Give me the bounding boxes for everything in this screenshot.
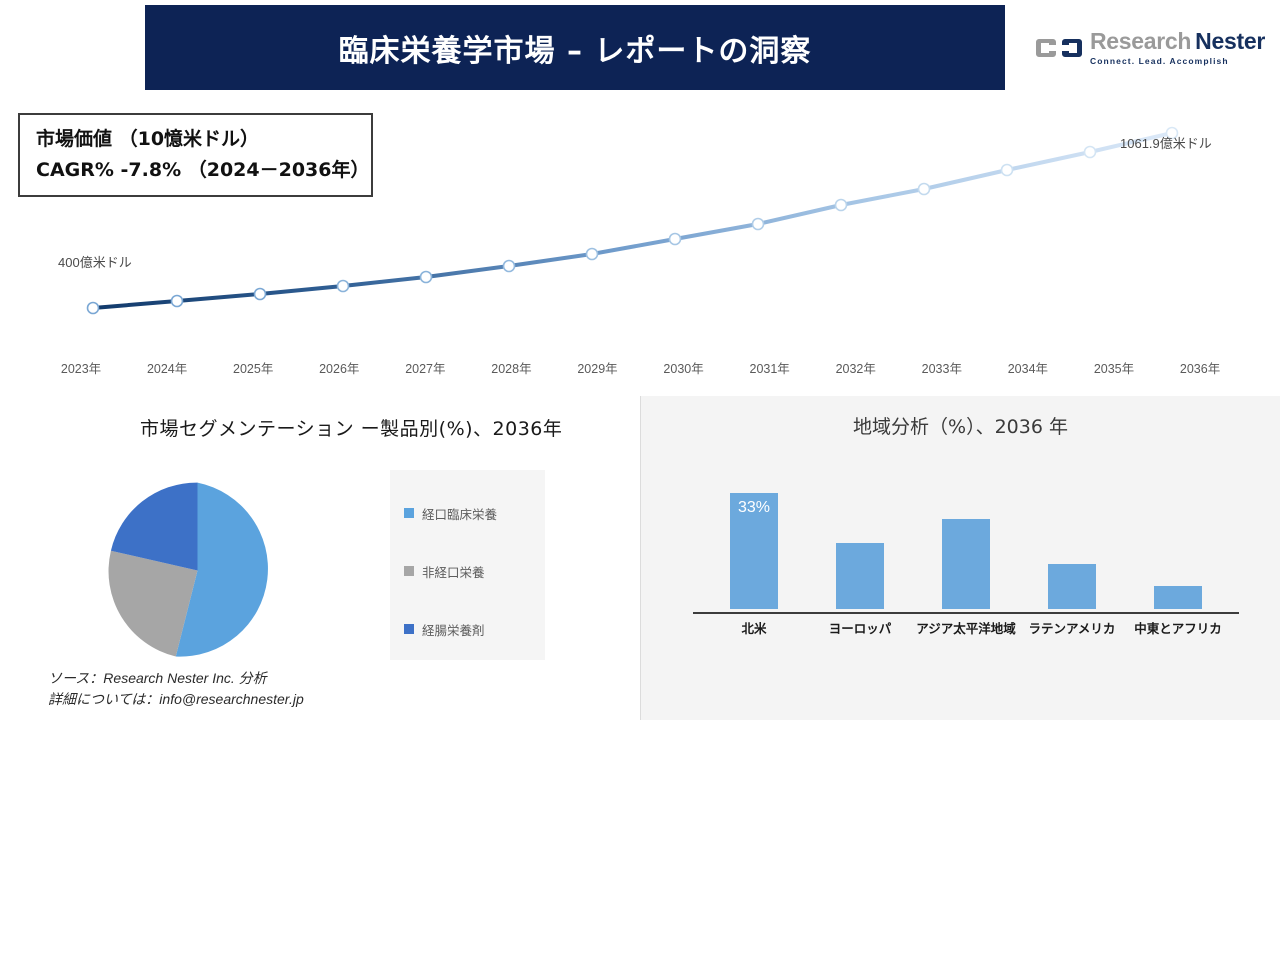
bar-column: [913, 466, 1019, 609]
source-line-2: 詳細については：info@researchnester.jp: [48, 689, 304, 710]
legend-item-enteral: 経腸栄養剤: [404, 600, 545, 658]
bar-europe: [836, 543, 884, 609]
bar-middle-east-africa: [1154, 586, 1202, 609]
legend-swatch-icon: [404, 566, 414, 576]
regional-analysis-panel: 地域分析（%）、2036 年 33% 北米 ヨーロッパ アジア太平洋地域 ラテン…: [640, 396, 1280, 720]
line-start-value-label: 400億米ドル: [58, 252, 132, 271]
x-tick: 2031年: [727, 358, 813, 382]
legend-swatch-icon: [404, 624, 414, 634]
bar-column: [1125, 466, 1231, 609]
x-tick: 2029年: [554, 358, 640, 382]
x-tick: 2024年: [124, 358, 210, 382]
x-tick: 2027年: [382, 358, 468, 382]
bar-label: 北米: [701, 618, 807, 637]
line-end-value-label: 1061.9億米ドル: [1120, 133, 1212, 152]
line-markers: [88, 128, 1178, 314]
x-tick: 2025年: [210, 358, 296, 382]
source-note: ソース：Research Nester Inc. 分析 詳細については：info…: [48, 668, 304, 710]
x-tick: 2028年: [468, 358, 554, 382]
regional-analysis-title: 地域分析（%）、2036 年: [641, 412, 1280, 439]
x-tick: 2033年: [899, 358, 985, 382]
bar-label: アジア太平洋地域: [913, 618, 1019, 637]
pie-data-label: 54%: [214, 928, 258, 954]
page-title: 臨床栄養学市場 – レポートの洞察: [339, 26, 812, 70]
header-bar: 臨床栄養学市場 – レポートの洞察: [145, 5, 1005, 90]
legend-item-parenteral: 非経口栄養: [404, 542, 545, 600]
bar-chart-x-axis: 北米 ヨーロッパ アジア太平洋地域 ラテンアメリカ 中東とアフリカ: [701, 618, 1231, 637]
x-tick: 2035年: [1071, 358, 1157, 382]
source-line-1: ソース：Research Nester Inc. 分析: [48, 668, 304, 689]
regional-bar-chart: 33%: [701, 466, 1231, 609]
bar-label: ラテンアメリカ: [1019, 618, 1125, 637]
bar-latin-america: [1048, 564, 1096, 609]
bar-column: 33%: [701, 466, 807, 609]
logo-tagline: Connect. Lead. Accomplish: [1090, 57, 1265, 66]
line-series-path: [93, 133, 1172, 308]
legend-swatch-icon: [404, 508, 414, 518]
bar-column: [807, 466, 913, 609]
x-tick: 2036年: [1157, 358, 1243, 382]
segmentation-title: 市場セグメンテーション ー製品別(%)、2036年: [140, 414, 562, 441]
segmentation-pie-chart: [105, 478, 290, 663]
bar-label: 中東とアフリカ: [1125, 618, 1231, 637]
bar-chart-axis-line: [693, 612, 1239, 614]
x-tick: 2023年: [38, 358, 124, 382]
legend-label: 非経口栄養: [422, 562, 485, 581]
bar-data-label: 33%: [730, 499, 778, 517]
market-value-line-chart: [0, 100, 1280, 390]
x-tick: 2034年: [985, 358, 1071, 382]
bar-column: [1019, 466, 1125, 609]
brand-logo: ResearchNester Connect. Lead. Accomplish: [1035, 22, 1265, 74]
logo-wordmark: ResearchNester: [1090, 30, 1265, 53]
logo-mark-icon: [1035, 33, 1083, 63]
logo-word-research: Research: [1090, 28, 1191, 54]
bar-north-america: 33%: [730, 493, 778, 609]
x-tick: 2030年: [641, 358, 727, 382]
x-tick: 2026年: [296, 358, 382, 382]
bar-label: ヨーロッパ: [807, 618, 913, 637]
line-chart-x-axis: 2023年 2024年 2025年 2026年 2027年 2028年 2029…: [38, 358, 1243, 382]
segmentation-legend: 経口臨床栄養 非経口栄養 経腸栄養剤: [390, 470, 545, 660]
bar-asia-pacific: [942, 519, 990, 609]
x-tick: 2032年: [813, 358, 899, 382]
logo-word-nester: Nester: [1195, 28, 1265, 54]
legend-label: 経腸栄養剤: [422, 620, 485, 639]
legend-label: 経口臨床栄養: [422, 504, 497, 523]
legend-item-oral: 経口臨床栄養: [404, 484, 545, 542]
logo-text: ResearchNester Connect. Lead. Accomplish: [1090, 30, 1265, 66]
